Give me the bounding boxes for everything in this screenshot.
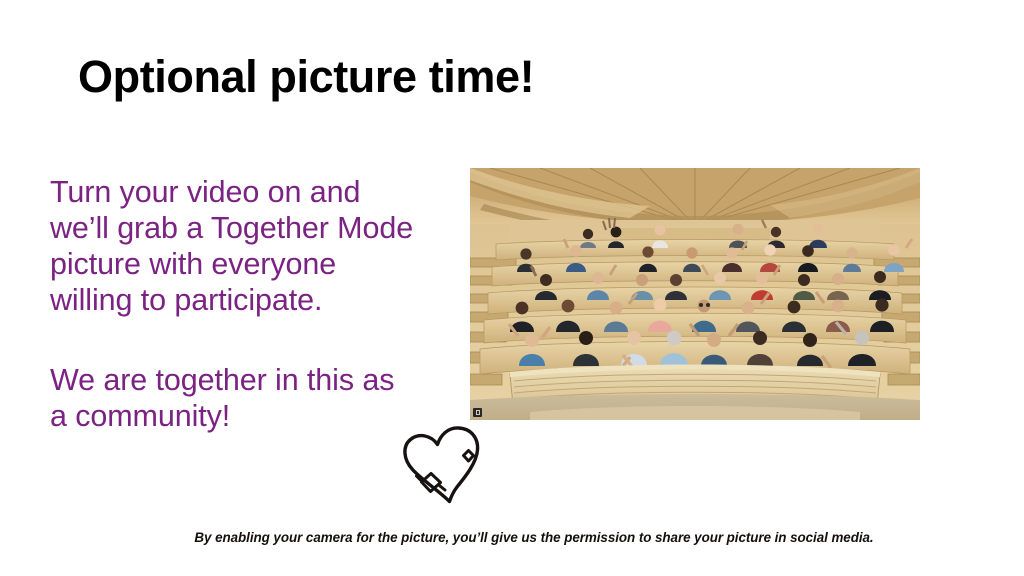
together-mode-auditorium-photo <box>470 168 920 420</box>
camera-tile-badge-icon <box>473 408 482 417</box>
slide-canvas: Optional picture time! Turn your video o… <box>0 0 1024 576</box>
footer-disclaimer-note: By enabling your camera for the picture,… <box>164 530 904 545</box>
page-title: Optional picture time! <box>78 52 534 102</box>
diamond-sparkle-icon <box>464 451 474 462</box>
heart-outline-path <box>405 428 478 502</box>
body-text-block: Turn your video on and we’ll grab a Toge… <box>50 174 415 434</box>
heart-outline-doodle-icon <box>399 419 495 505</box>
body-paragraph-2: We are together in this as a community! <box>50 362 415 434</box>
body-paragraph-1: Turn your video on and we’ll grab a Toge… <box>50 174 415 319</box>
